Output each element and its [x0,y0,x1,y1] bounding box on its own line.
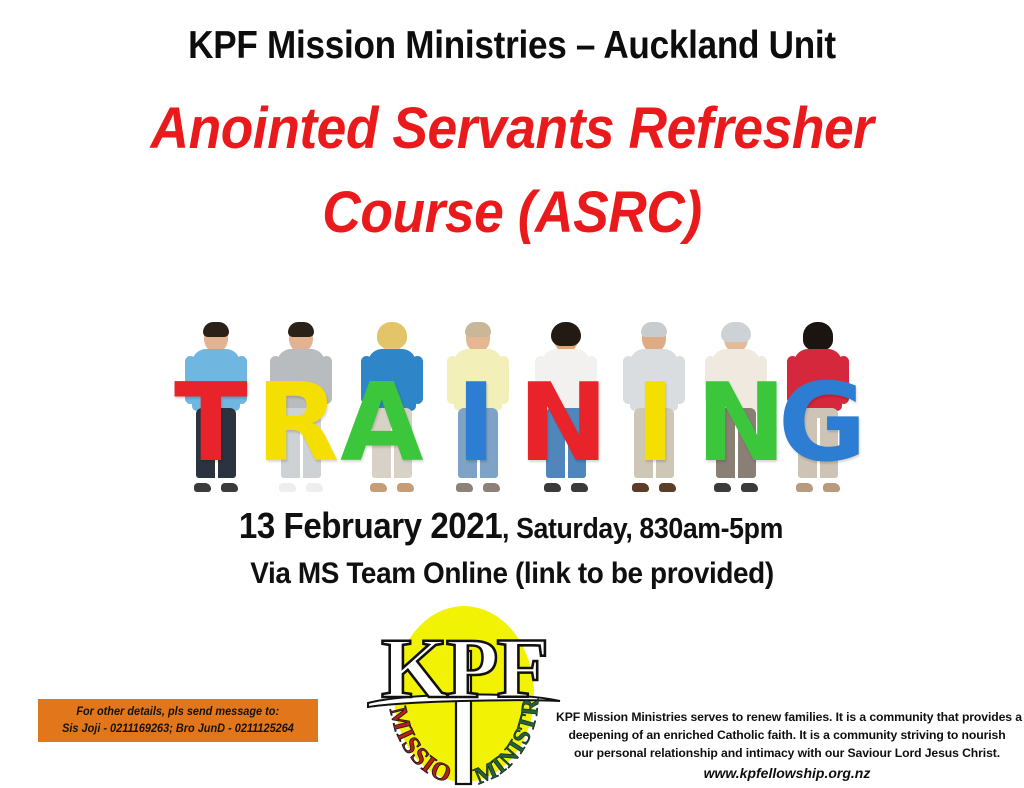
training-letter-a: A [340,370,422,478]
course-title-line2: Course (ASRC) [41,171,983,255]
person-hair [465,322,491,337]
page-title: KPF Mission Ministries – Auckland Unit [51,22,973,70]
contact-box-line2: Sis Joji - 0211169263; Bro JunD - 021112… [62,721,294,738]
course-title-line1: Anointed Servants Refresher [41,87,983,171]
kpf-logo: KPF MISSION MINISTRIES [366,601,562,788]
training-letter-r: R [256,370,337,478]
event-venue: Via MS Team Online (link to be provided) [36,557,988,591]
course-title: Anointed Servants Refresher Course (ASRC… [41,87,983,255]
person-arm-right [674,356,685,404]
person-hair [551,322,581,346]
training-letter-n2: N [696,370,784,478]
training-letter-g: G [778,370,865,478]
mission-statement-line3: our personal relationship and intimacy w… [556,744,1018,762]
mission-statement-line2: deepening of an enriched Catholic faith.… [556,726,1018,744]
person-hair [803,322,833,350]
training-letter-i2: I [635,370,673,478]
mission-statement: KPF Mission Ministries serves to renew f… [556,708,1018,784]
person-hair [721,322,751,342]
person-hair [377,322,407,348]
event-date: 13 February 2021 [239,505,502,547]
person-hair [203,322,229,337]
training-photo: T R A I N I N G [168,314,858,492]
person-arm-right [498,356,509,404]
contact-box-line1: For other details, pls send message to: [77,704,280,721]
event-day-time: , Saturday, 830am-5pm [502,513,783,546]
person-arm-left [623,356,634,404]
training-letter-i1: I [456,370,494,478]
event-date-line: 13 February 2021, Saturday, 830am-5pm [0,505,1024,547]
person-hair [288,322,314,337]
person-hair [641,322,667,337]
contact-box: For other details, pls send message to: … [38,699,318,742]
mission-statement-line1: KPF Mission Ministries serves to renew f… [556,708,1018,726]
training-letter-t: T [174,370,246,478]
training-letter-n1: N [518,370,606,478]
website-url[interactable]: www.kpfellowship.org.nz [556,762,1018,784]
